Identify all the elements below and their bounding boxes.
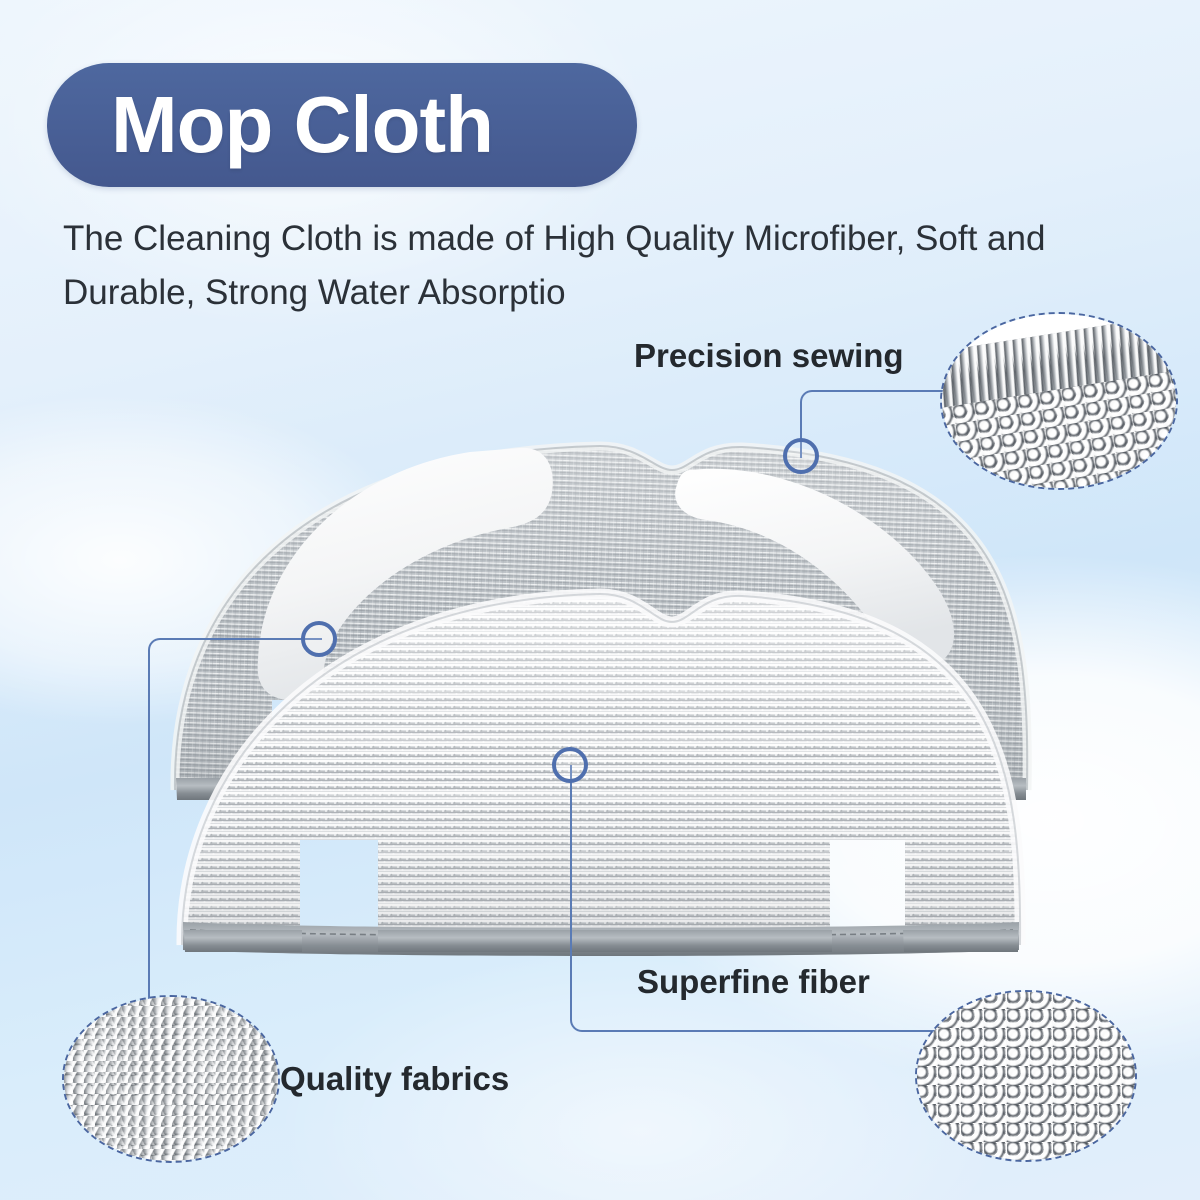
infographic-canvas: Mop Cloth The Cleaning Cloth is made of … [0, 0, 1200, 1200]
leader-line-quality-fabrics [148, 638, 322, 1032]
callout-marker-superfine-fiber[interactable] [552, 747, 588, 783]
detail-bubble-quality-fabrics [62, 995, 280, 1163]
page-title-badge: Mop Cloth [47, 63, 637, 187]
detail-bubble-superfine-fiber [915, 990, 1137, 1162]
callout-label-precision-sewing: Precision sewing [634, 337, 904, 375]
callout-marker-precision-sewing[interactable] [783, 438, 819, 474]
page-title: Mop Cloth [111, 85, 493, 165]
loop-pile-closeup-icon [915, 990, 1137, 1162]
page-subtitle: The Cleaning Cloth is made of High Quali… [63, 212, 1153, 321]
callout-marker-quality-fabrics[interactable] [301, 621, 337, 657]
knit-weave-closeup-icon [62, 995, 280, 1163]
sewn-edge-closeup-icon [940, 312, 1178, 490]
leader-line-superfine-fiber [570, 765, 972, 1032]
callout-label-quality-fabrics: Quality fabrics [280, 1060, 509, 1098]
detail-bubble-precision-sewing [940, 312, 1178, 490]
